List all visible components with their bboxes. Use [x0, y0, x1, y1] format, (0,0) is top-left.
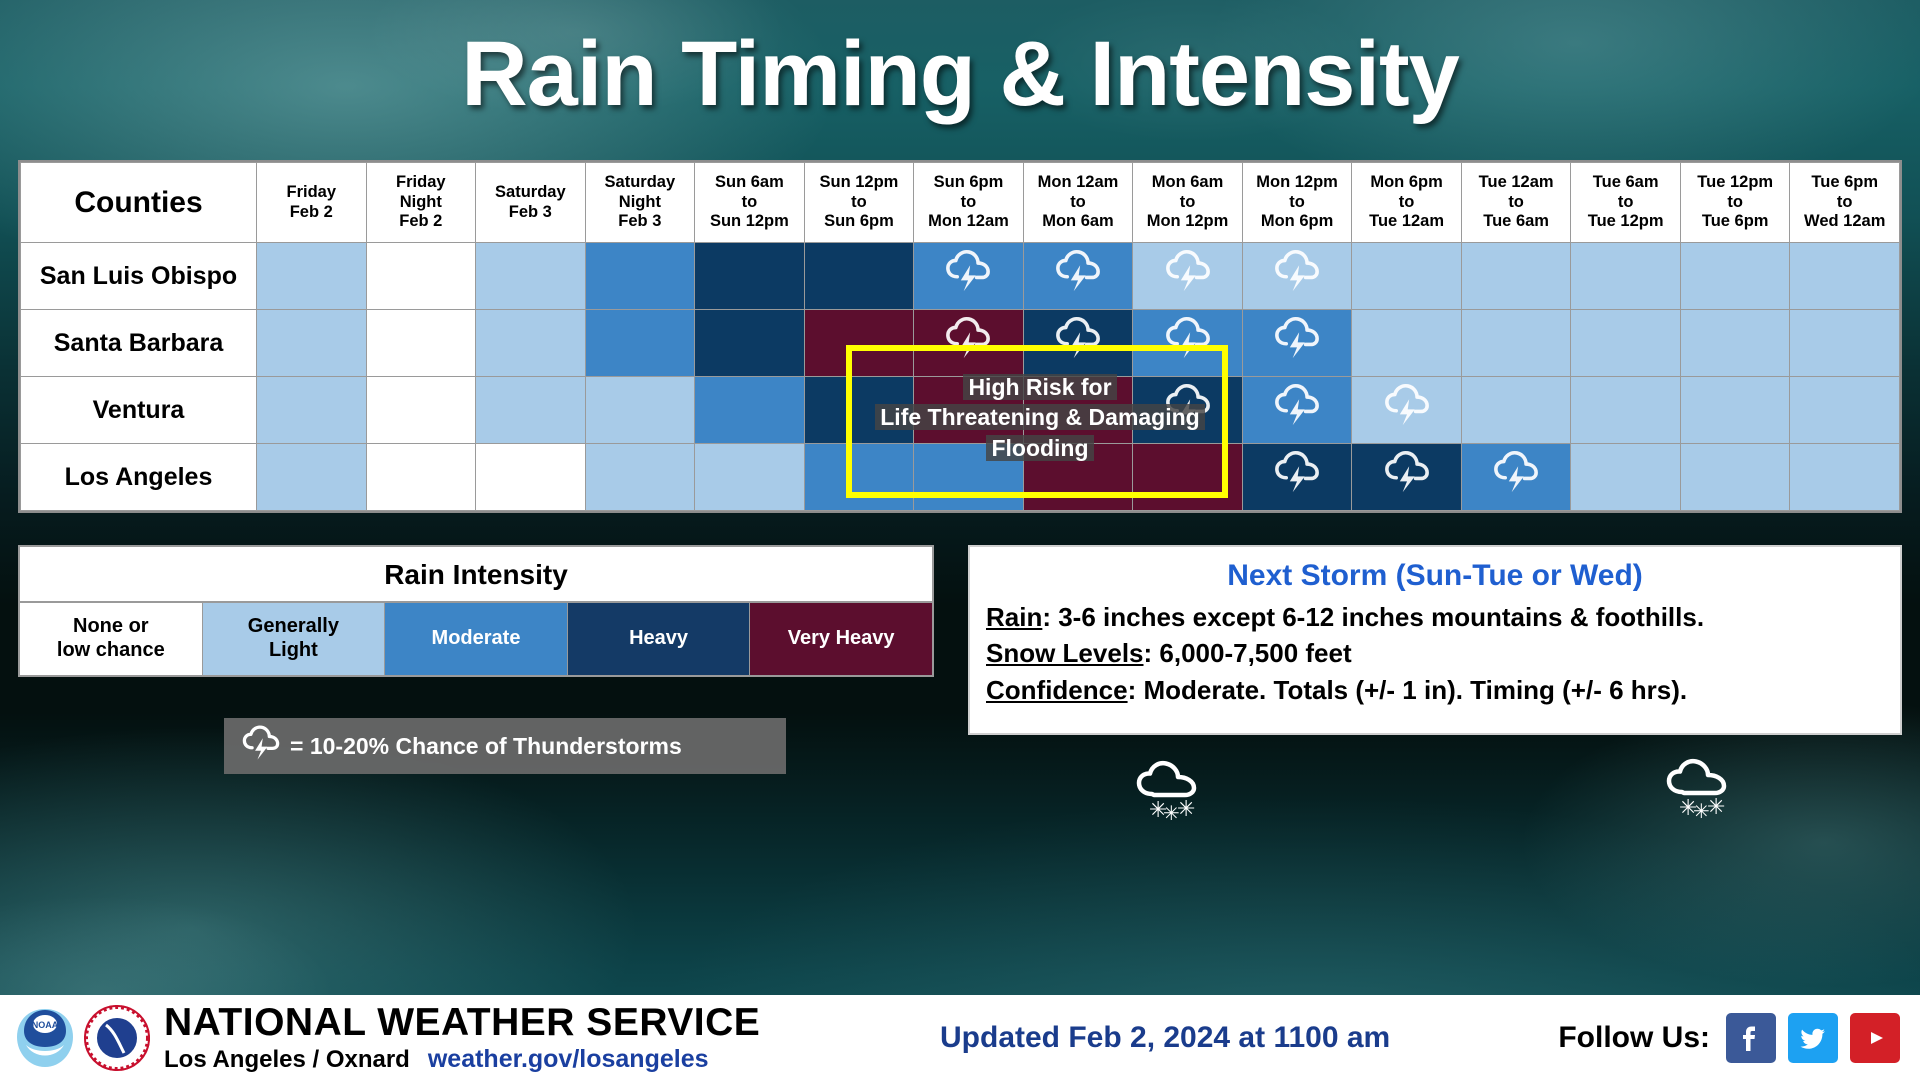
time-column-header: Tue 12pmtoTue 6pm [1680, 163, 1790, 243]
footer-bar: NOAA NATIONAL WEATHER SERVICE Los Angele… [0, 995, 1920, 1080]
intensity-cell [804, 310, 914, 377]
thunderstorm-icon [1243, 382, 1352, 448]
intensity-cell [1571, 444, 1681, 511]
snow-cloud-icon-right: ✳ ✳ ✳ [1664, 758, 1736, 820]
time-column-header: Mon 6pmtoTue 12am [1352, 163, 1462, 243]
snow-cloud-icon-left: ✳ ✳ ✳ [1134, 760, 1206, 822]
intensity-cell [695, 243, 805, 310]
intensity-cell [366, 444, 476, 511]
agency-name: NATIONAL WEATHER SERVICE [164, 1003, 760, 1042]
intensity-cell [804, 243, 914, 310]
intensity-cell [476, 444, 586, 511]
intensity-cell [1461, 444, 1571, 511]
legend-swatch-label: GenerallyLight [248, 615, 339, 662]
thunderstorm-icon [1133, 248, 1242, 314]
intensity-cell [1242, 243, 1352, 310]
time-column-header: FridayFeb 2 [257, 163, 367, 243]
intensity-cell [1242, 377, 1352, 444]
intensity-cell [1023, 243, 1133, 310]
legend-swatch-label: Very Heavy [788, 627, 895, 651]
county-name-cell: Santa Barbara [21, 310, 257, 377]
intensity-cell [1790, 377, 1900, 444]
legend-swatch: Very Heavy [750, 603, 932, 675]
time-column-header: Tue 6pmtoWed 12am [1790, 163, 1900, 243]
time-column-header: Sun 12pmtoSun 6pm [804, 163, 914, 243]
youtube-icon[interactable] [1850, 1013, 1900, 1063]
next-storm-title: Next Storm (Sun-Tue or Wed) [986, 557, 1884, 595]
intensity-cell [1571, 243, 1681, 310]
thunderstorm-note: = 10-20% Chance of Thunderstorms [224, 718, 786, 774]
county-name-cell: Los Angeles [21, 444, 257, 511]
intensity-cell [476, 243, 586, 310]
time-column-header: FridayNightFeb 2 [366, 163, 476, 243]
intensity-cell [1133, 243, 1243, 310]
intensity-cell [366, 310, 476, 377]
follow-us-label: Follow Us: [1558, 1021, 1710, 1055]
legend-swatch-label: Moderate [432, 627, 521, 651]
legend-swatch-label: None orlow chance [57, 615, 165, 662]
next-storm-line-label: Confidence [986, 675, 1128, 705]
intensity-cell [585, 310, 695, 377]
updated-timestamp: Updated Feb 2, 2024 at 1100 am [940, 1021, 1390, 1055]
intensity-cell [1242, 444, 1352, 511]
time-column-header: Mon 12pmtoMon 6pm [1242, 163, 1352, 243]
page-title: Rain Timing & Intensity [0, 26, 1920, 123]
intensity-cell [1352, 444, 1462, 511]
website-url[interactable]: weather.gov/losangeles [428, 1047, 709, 1072]
thunderstorm-icon [1352, 382, 1461, 448]
next-storm-line: Rain: 3-6 inches except 6-12 inches moun… [986, 599, 1884, 636]
intensity-cell [695, 310, 805, 377]
high-risk-line-1: High Risk for [963, 374, 1116, 400]
thunderstorm-icon [1024, 248, 1133, 314]
next-storm-line-label: Rain [986, 602, 1042, 632]
high-risk-line-2: Life Threatening & Damaging [875, 404, 1204, 430]
intensity-cell [1571, 377, 1681, 444]
intensity-cell [257, 377, 367, 444]
noaa-logo: NOAA [14, 1007, 76, 1069]
legend-swatch: Heavy [568, 603, 751, 675]
svg-text:NOAA: NOAA [32, 1020, 59, 1030]
thunderstorm-icon [1462, 449, 1571, 515]
next-storm-line-text: : Moderate. Totals (+/- 1 in). Timing (+… [1128, 675, 1688, 705]
legend-swatch: GenerallyLight [203, 603, 386, 675]
intensity-cell [1680, 243, 1790, 310]
time-column-header: Mon 6amtoMon 12pm [1133, 163, 1243, 243]
table-header-row: Counties FridayFeb 2FridayNightFeb 2Satu… [21, 163, 1900, 243]
legend-swatch-label: Heavy [629, 627, 688, 651]
intensity-cell [1571, 310, 1681, 377]
next-storm-line-text: : 3-6 inches except 6-12 inches mountain… [1042, 602, 1704, 632]
intensity-cell [1352, 310, 1462, 377]
intensity-cell [1133, 310, 1243, 377]
next-storm-panel: Next Storm (Sun-Tue or Wed) Rain: 3-6 in… [968, 545, 1902, 735]
time-column-header: Tue 6amtoTue 12pm [1571, 163, 1681, 243]
next-storm-line-text: : 6,000-7,500 feet [1144, 638, 1352, 668]
rain-intensity-legend: Rain Intensity None orlow chanceGenerall… [18, 545, 934, 677]
intensity-cell [476, 310, 586, 377]
intensity-cell [585, 444, 695, 511]
intensity-cell [1790, 444, 1900, 511]
thunderstorm-note-text: = 10-20% Chance of Thunderstorms [290, 733, 682, 760]
intensity-cell [476, 377, 586, 444]
intensity-cell [1461, 377, 1571, 444]
time-column-header: Mon 12amtoMon 6am [1023, 163, 1133, 243]
thunderstorm-icon [242, 724, 280, 768]
intensity-cell [695, 377, 805, 444]
next-storm-lines: Rain: 3-6 inches except 6-12 inches moun… [986, 599, 1884, 710]
intensity-cell [257, 310, 367, 377]
counties-header: Counties [21, 163, 257, 243]
time-column-header: SaturdayNightFeb 3 [585, 163, 695, 243]
social-links: Follow Us: [1558, 1013, 1900, 1063]
nws-seal-logo [84, 1005, 150, 1071]
nws-branding: NATIONAL WEATHER SERVICE Los Angeles / O… [164, 1003, 760, 1072]
intensity-cell [1461, 243, 1571, 310]
office-name: Los Angeles / Oxnard [164, 1048, 410, 1072]
intensity-cell [695, 444, 805, 511]
time-column-header: Sun 6pmtoMon 12am [914, 163, 1024, 243]
intensity-cell [257, 444, 367, 511]
intensity-cell [1680, 444, 1790, 511]
facebook-icon[interactable] [1726, 1013, 1776, 1063]
intensity-cell [257, 243, 367, 310]
high-risk-line-3: Flooding [986, 435, 1093, 461]
intensity-cell [366, 377, 476, 444]
intensity-cell [366, 243, 476, 310]
legend-swatches: None orlow chanceGenerallyLightModerateH… [20, 603, 932, 675]
time-column-header: Tue 12amtoTue 6am [1461, 163, 1571, 243]
intensity-cell [1352, 243, 1462, 310]
intensity-cell [1352, 377, 1462, 444]
intensity-cell [585, 377, 695, 444]
table-row: Santa Barbara [21, 310, 1900, 377]
intensity-cell [1461, 310, 1571, 377]
intensity-cell [1023, 310, 1133, 377]
intensity-cell [1680, 377, 1790, 444]
table-row: San Luis Obispo [21, 243, 1900, 310]
intensity-cell [914, 243, 1024, 310]
intensity-cell [1242, 310, 1352, 377]
thunderstorm-icon [1352, 449, 1461, 515]
intensity-cell [585, 243, 695, 310]
legend-swatch: None orlow chance [20, 603, 203, 675]
intensity-cell [914, 310, 1024, 377]
next-storm-line: Snow Levels: 6,000-7,500 feet [986, 635, 1884, 672]
time-column-header: SaturdayFeb 3 [476, 163, 586, 243]
county-name-cell: Ventura [21, 377, 257, 444]
high-risk-label: High Risk for Life Threatening & Damagin… [840, 372, 1240, 463]
next-storm-line: Confidence: Moderate. Totals (+/- 1 in).… [986, 672, 1884, 709]
twitter-icon[interactable] [1788, 1013, 1838, 1063]
time-column-header: Sun 6amtoSun 12pm [695, 163, 805, 243]
next-storm-line-label: Snow Levels [986, 638, 1144, 668]
legend-title: Rain Intensity [20, 547, 932, 603]
intensity-cell [1790, 310, 1900, 377]
thunderstorm-icon [914, 248, 1023, 314]
county-name-cell: San Luis Obispo [21, 243, 257, 310]
legend-swatch: Moderate [385, 603, 568, 675]
svg-text:✳: ✳ [1707, 795, 1725, 820]
thunderstorm-icon [1243, 315, 1352, 381]
thunderstorm-icon [1243, 449, 1352, 515]
intensity-cell [1680, 310, 1790, 377]
thunderstorm-icon [1243, 248, 1352, 314]
intensity-cell [1790, 243, 1900, 310]
svg-text:✳: ✳ [1177, 797, 1195, 822]
